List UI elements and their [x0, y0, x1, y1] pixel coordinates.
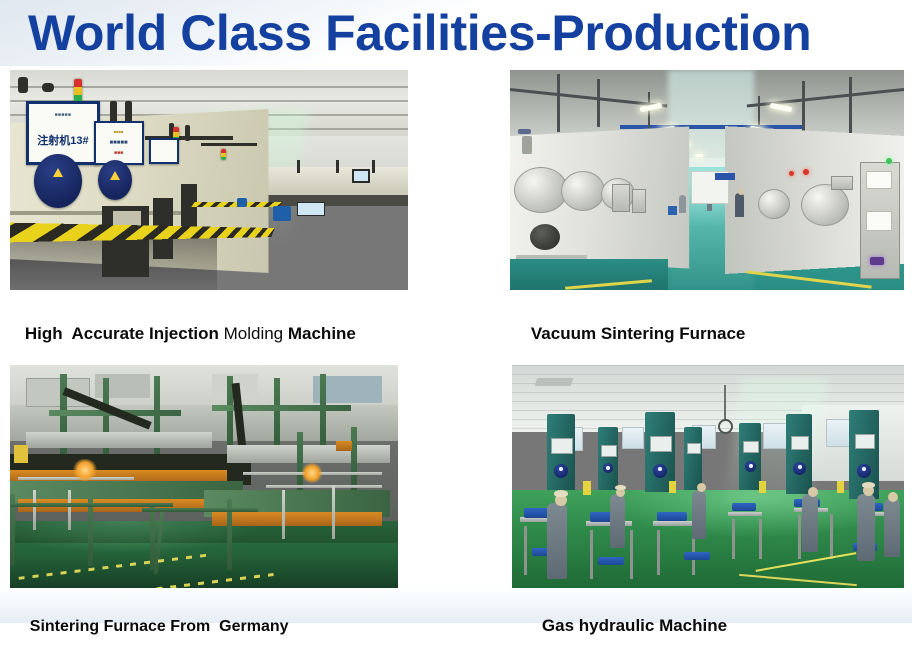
pipe-riser	[648, 92, 650, 132]
storage-bin	[273, 206, 291, 221]
parts-bin	[598, 557, 624, 565]
ceiling-lamp	[695, 154, 703, 157]
gas-hydraulic-press	[786, 414, 812, 494]
photo-sintering-furnace-germany	[10, 365, 398, 588]
guard-rail-bar	[10, 503, 173, 507]
machine-accent	[759, 481, 766, 493]
process-pipe-riser	[33, 490, 36, 530]
caption-part: Gas hydraulic Machine	[542, 616, 727, 635]
press-panel	[551, 438, 573, 454]
worker	[692, 490, 706, 539]
workbench-leg	[798, 514, 801, 559]
worker-cap	[615, 485, 626, 490]
storage-bin	[668, 206, 677, 215]
press-badge	[793, 462, 806, 475]
caption-part: High Accurate Injection	[25, 324, 224, 343]
caption-part: Vacuum Sintering Furnace	[531, 324, 745, 343]
caption-part: Machine	[288, 324, 356, 343]
worker	[735, 193, 744, 217]
ceiling-beam	[10, 86, 408, 88]
process-pipe	[266, 485, 382, 488]
yellow-equipment	[14, 445, 28, 463]
caption-part: Sintering Furnace From Germany	[30, 618, 289, 635]
far-machine-row	[249, 167, 408, 198]
workbench-monitor	[297, 202, 325, 216]
posted-document	[866, 171, 892, 189]
control-panel	[831, 176, 853, 190]
slide-body: World Class Facilities-Production	[0, 0, 912, 623]
stack-light	[221, 149, 226, 160]
page-title: World Class Facilities-Production	[28, 5, 888, 63]
storage-bin	[237, 198, 247, 207]
epoxy-floor	[512, 490, 904, 588]
robot-arm-rail	[201, 143, 257, 146]
worker-cap	[862, 482, 875, 488]
machine-accent	[583, 481, 591, 495]
gas-hydraulic-press	[598, 427, 618, 489]
furnace-glow	[301, 463, 323, 483]
press-badge	[745, 461, 756, 472]
machine-sign-text: 注射机13#	[29, 132, 97, 148]
back-window	[622, 427, 644, 449]
vacuum-furnace-chamber	[801, 184, 849, 226]
gas-hydraulic-press	[547, 414, 575, 490]
worker-cap	[554, 490, 568, 497]
furnace-frame-column	[297, 432, 303, 490]
press-badge	[603, 463, 613, 473]
workbench-leg	[590, 530, 593, 579]
furnace-valve	[522, 136, 532, 154]
indicator-light-red	[789, 171, 794, 176]
workbench	[653, 521, 695, 526]
photo-gas-hydraulic-machine	[512, 365, 904, 588]
orange-equipment	[336, 441, 352, 451]
ceiling-fixture	[534, 378, 573, 386]
caption-injection-molding: High Accurate Injection Molding Machine	[6, 304, 356, 364]
vacuum-furnace-chamber	[758, 189, 790, 219]
furnace-hot-band	[212, 512, 383, 525]
press-panel	[743, 441, 759, 453]
safety-placard	[34, 154, 82, 208]
overhead-fixture	[18, 77, 28, 93]
furnace-frame-column	[351, 427, 357, 489]
caption-sintering-furnace-germany: Sintering Furnace From Germany	[12, 597, 289, 657]
worker	[857, 494, 875, 561]
parts-bin	[684, 552, 710, 560]
far-monitor	[352, 169, 370, 183]
overhead-fixture	[42, 83, 54, 92]
gas-hydraulic-press	[739, 423, 761, 490]
worker-head	[738, 189, 744, 195]
panel-display	[870, 257, 884, 265]
vacuum-furnace-chamber	[514, 167, 568, 213]
workbench-leg	[657, 530, 660, 575]
worker-head	[808, 487, 818, 497]
pipe-riser	[802, 81, 805, 134]
worker	[610, 494, 625, 548]
furnace-frame-column	[154, 376, 160, 465]
far-signage	[715, 173, 735, 180]
workbench-leg	[830, 514, 833, 559]
pipe-riser	[557, 74, 560, 131]
machine-signboard: ■■■■ ■■■■■ ■■■	[94, 121, 144, 165]
furnace-upper-deck	[227, 445, 390, 463]
photo-vacuum-sintering-furnace	[510, 70, 904, 290]
parts-bin	[732, 503, 756, 511]
caption-part: Molding	[224, 324, 288, 343]
furnace-frame-column	[274, 378, 280, 454]
posted-document	[866, 211, 892, 231]
caption-vacuum-sintering-furnace: Vacuum Sintering Furnace	[512, 304, 745, 364]
guard-rail-post	[88, 499, 93, 566]
hose-reel	[718, 419, 733, 434]
furnace-valve-top	[518, 129, 531, 134]
press-panel	[601, 445, 617, 457]
press-panel	[791, 436, 809, 450]
process-pipe-riser	[282, 490, 285, 539]
caption-gas-hydraulic-machine: Gas hydraulic Machine	[523, 596, 727, 656]
machine-signboard	[149, 138, 179, 164]
safety-placard	[98, 160, 132, 200]
press-panel	[650, 436, 672, 452]
far-post	[336, 160, 339, 173]
worker	[547, 503, 567, 579]
process-pipe-riser	[68, 490, 71, 530]
control-panel	[632, 189, 646, 213]
far-post	[297, 160, 300, 173]
parts-bin	[657, 512, 687, 521]
press-badge	[554, 464, 568, 478]
worker	[679, 195, 686, 213]
worker	[884, 499, 900, 557]
furnace-upper-deck	[26, 432, 212, 448]
pipe-riser	[849, 77, 852, 134]
vacuum-pump	[530, 224, 560, 250]
workbench-leg	[630, 530, 633, 579]
stack-light	[74, 79, 82, 103]
workbench-leg	[732, 519, 735, 559]
press-panel	[687, 443, 701, 454]
gas-hydraulic-press	[684, 427, 702, 489]
workbench	[728, 512, 762, 516]
pipe-riser	[597, 79, 600, 127]
workbench-leg	[524, 526, 527, 575]
machine-accent	[837, 481, 844, 493]
far-post	[372, 160, 375, 173]
press-badge	[857, 464, 871, 478]
furnace-glow	[72, 459, 98, 481]
hanging-cord	[724, 385, 726, 421]
workbench-leg	[759, 519, 762, 559]
press-panel	[855, 434, 875, 449]
control-panel	[612, 184, 630, 212]
furnace-frame-beam	[212, 405, 352, 411]
process-pipe-riser	[332, 485, 335, 539]
machine-accent	[669, 481, 676, 493]
photo-injection-molding: ■■■■■ 注射机13# ■■■■ ■■■■■ ■■■	[10, 70, 408, 290]
worker	[802, 494, 818, 552]
press-badge	[653, 464, 667, 478]
